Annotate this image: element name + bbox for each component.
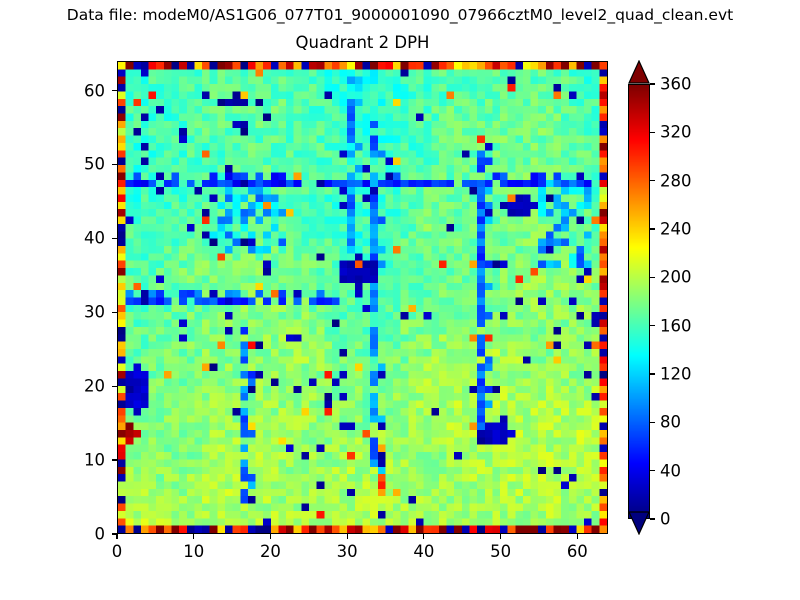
colorbar-tick-mark: [650, 422, 655, 423]
y-tick-mark: [112, 459, 117, 460]
page-title: Quadrant 2 DPH: [117, 33, 608, 52]
colorbar-tick-mark: [650, 518, 655, 519]
y-tick-mark: [112, 238, 117, 239]
colorbar-tick-mark: [650, 132, 655, 133]
y-tick-label: 0: [53, 525, 105, 544]
colorbar-tick-label: 320: [660, 123, 692, 142]
colorbar-extend-min-icon: [628, 511, 650, 535]
y-tick-label: 10: [53, 451, 105, 470]
x-tick-mark: [347, 534, 348, 539]
colorbar-tick-label: 120: [660, 365, 692, 384]
x-tick-label: 10: [183, 542, 204, 561]
colorbar-tick-mark: [650, 470, 655, 471]
colorbar-tick-mark: [650, 180, 655, 181]
x-tick-label: 50: [490, 542, 511, 561]
x-tick-mark: [500, 534, 501, 539]
colorbar-extend-max-icon: [628, 60, 650, 84]
x-tick-label: 20: [260, 542, 281, 561]
colorbar-tick-mark: [650, 277, 655, 278]
x-tick-label: 0: [112, 542, 123, 561]
colorbar-tick-label: 160: [660, 316, 692, 335]
heatmap-axes[interactable]: [117, 61, 608, 534]
colorbar-tick-label: 0: [660, 510, 671, 529]
colorbar-tick-label: 280: [660, 171, 692, 190]
x-tick-label: 30: [337, 542, 358, 561]
y-tick-label: 20: [53, 377, 105, 396]
y-tick-mark: [112, 164, 117, 165]
y-tick-label: 50: [53, 155, 105, 174]
y-tick-label: 30: [53, 303, 105, 322]
colorbar-tick-label: 40: [660, 461, 681, 480]
x-tick-label: 40: [413, 542, 434, 561]
heatmap-image[interactable]: [118, 62, 607, 533]
colorbar-tick-label: 240: [660, 220, 692, 239]
figure-suptitle: Data file: modeM0/AS1G06_077T01_90000010…: [0, 6, 800, 24]
y-tick-mark: [112, 90, 117, 91]
colorbar-tick-label: 200: [660, 268, 692, 287]
colorbar-gradient[interactable]: [628, 84, 650, 519]
colorbar-canvas: [629, 85, 649, 518]
y-tick-label: 60: [53, 81, 105, 100]
x-tick-mark: [577, 534, 578, 539]
colorbar-tick-mark: [650, 373, 655, 374]
colorbar-tick-mark: [650, 228, 655, 229]
y-tick-mark: [112, 533, 117, 534]
x-tick-mark: [423, 534, 424, 539]
y-tick-label: 40: [53, 229, 105, 248]
x-tick-mark: [270, 534, 271, 539]
colorbar[interactable]: [628, 61, 650, 534]
colorbar-tick-label: 80: [660, 413, 681, 432]
y-tick-mark: [112, 386, 117, 387]
colorbar-tick-mark: [650, 325, 655, 326]
colorbar-tick-mark: [650, 83, 655, 84]
x-tick-mark: [116, 534, 117, 539]
y-tick-mark: [112, 312, 117, 313]
x-tick-mark: [193, 534, 194, 539]
colorbar-tick-label: 360: [660, 75, 692, 94]
x-tick-label: 60: [567, 542, 588, 561]
figure-canvas: Data file: modeM0/AS1G06_077T01_90000010…: [0, 0, 800, 600]
